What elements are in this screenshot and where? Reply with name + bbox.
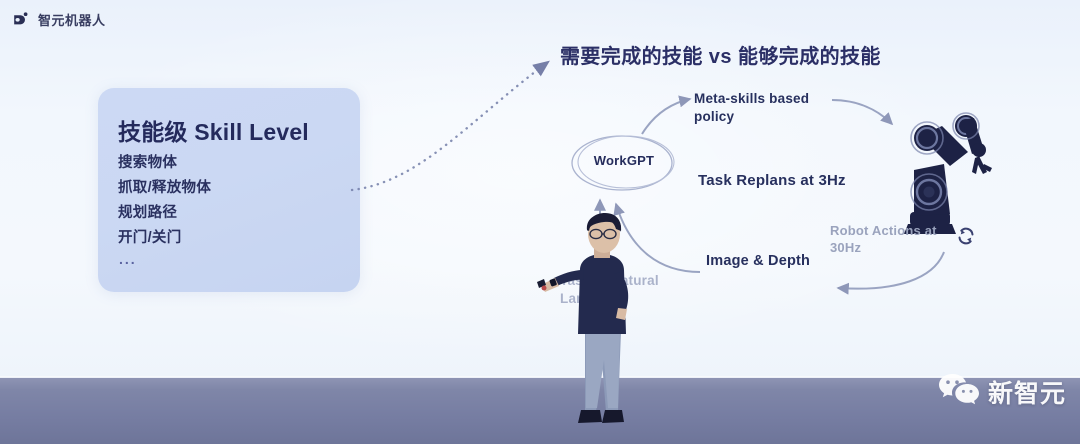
wechat-icon [938, 372, 980, 411]
node-label-image-depth: Image & Depth [706, 252, 816, 271]
list-item: 搜索物体 [118, 151, 211, 176]
node-label-meta-policy: Meta-skills based policy [694, 90, 824, 126]
presentation-screenshot: 智元机器人 技能级 Skill Level 搜索物体 抓取/释放物体 规划路径 … [0, 0, 1080, 444]
skill-level-panel: 技能级 Skill Level 搜索物体 抓取/释放物体 规划路径 开门/关门 … [98, 88, 360, 292]
agibot-d-mark-icon [12, 10, 31, 29]
headline-part-a: 需要完成的技能 [560, 46, 703, 68]
diagram-center-label: Task Replans at 3Hz [698, 172, 846, 189]
brand-logo: 智元机器人 [12, 10, 106, 29]
watermark-text: 新智元 [988, 374, 1066, 410]
brand-name: 智元机器人 [38, 10, 106, 29]
robot-rate-label: Robot Actions at 30Hz [830, 222, 960, 256]
skill-list: 搜索物体 抓取/释放物体 规划路径 开门/关门 [118, 151, 211, 251]
node-label-workgpt: WorkGPT [576, 153, 672, 168]
skill-panel-title: 技能级 Skill Level [118, 113, 309, 147]
watermark: 新智元 [938, 372, 1066, 411]
presenter-person [528, 212, 678, 444]
refresh-cycle-icon [955, 225, 977, 247]
slide-headline: 需要完成的技能 vs 能够完成的技能 [560, 40, 881, 69]
list-item: 开门/关门 [118, 226, 211, 251]
headline-vs: vs [709, 46, 732, 68]
skill-list-ellipsis: ... [119, 251, 137, 267]
headline-part-b: 能够完成的技能 [738, 46, 881, 68]
list-item: 抓取/释放物体 [118, 176, 211, 201]
list-item: 规划路径 [118, 201, 211, 226]
